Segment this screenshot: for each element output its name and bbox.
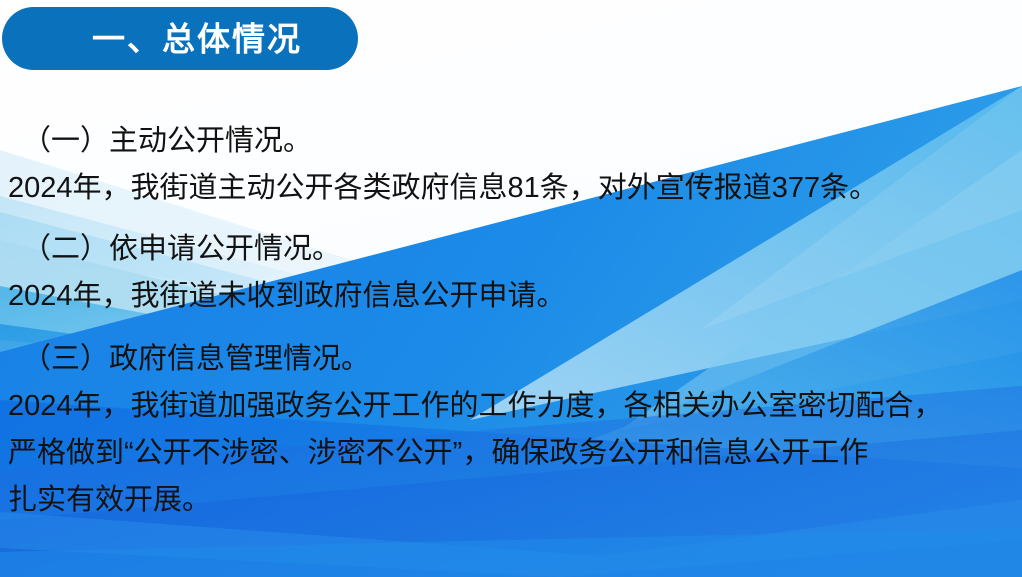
- section-heading: （一）主动公开情况。: [0, 118, 1022, 165]
- section-heading: （三）政府信息管理情况。: [0, 336, 1022, 383]
- section-heading: （二）依申请公开情况。: [0, 226, 1022, 273]
- spacer: [0, 320, 1022, 336]
- section-block: （三）政府信息管理情况。 2024年，我街道加强政务公开工作的工作力度，各相关办…: [0, 336, 1022, 524]
- section-block: （二）依申请公开情况。 2024年，我街道未收到政府信息公开申请。: [0, 226, 1022, 320]
- spacer: [0, 212, 1022, 226]
- section-block: （一）主动公开情况。 2024年，我街道主动公开各类政府信息81条，对外宣传报道…: [0, 118, 1022, 212]
- section-line: 2024年，我街道加强政务公开工作的工作力度，各相关办公室密切配合，: [0, 383, 1022, 430]
- section-title-pill: 一、总体情况: [2, 7, 358, 70]
- section-line: 2024年，我街道未收到政府信息公开申请。: [0, 273, 1022, 320]
- section-line: 扎实有效开展。: [0, 477, 1022, 524]
- page-title: 一、总体情况: [2, 22, 358, 55]
- slide-canvas: 一、总体情况 （一）主动公开情况。 2024年，我街道主动公开各类政府信息81条…: [0, 0, 1022, 577]
- section-line: 严格做到“公开不涉密、涉密不公开”，确保政务公开和信息公开工作: [0, 430, 1022, 477]
- slide-body: （一）主动公开情况。 2024年，我街道主动公开各类政府信息81条，对外宣传报道…: [0, 118, 1022, 524]
- section-line: 2024年，我街道主动公开各类政府信息81条，对外宣传报道377条。: [0, 165, 1022, 212]
